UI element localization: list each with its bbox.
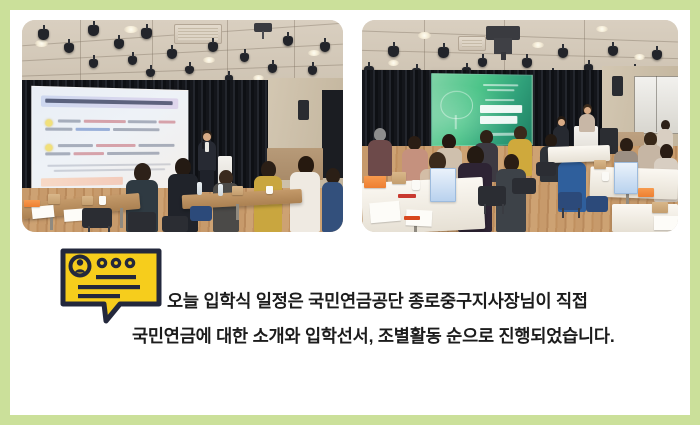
ceiling-downlight [388,60,399,66]
chair [162,216,188,232]
slide-bullet-icon [45,144,52,151]
ceiling-downlight [596,26,608,32]
stage-spotlight [558,48,568,58]
snack-box [638,188,654,197]
paper-bag [652,202,668,213]
audience-head [442,134,456,149]
speech-bubble [58,247,164,325]
paper-bag [48,194,60,204]
chair-leg [108,226,110,232]
chair-leg [88,226,90,232]
wall-speaker [612,76,623,96]
slide-body-text [138,144,174,147]
chair [128,212,156,232]
ceiling-ac-unit [174,24,222,44]
caption-line-1: 오늘 입학식 일정은 국민연금공단 종로중구지사장님이 직접 [167,288,588,313]
slide-body-text [58,119,81,122]
handout-paper [31,205,54,219]
ceiling-grid-line [294,20,295,82]
presenter-face [584,107,591,114]
slide-tree-trunk [455,115,457,129]
bubble-text-line [78,285,140,289]
info-folder [614,162,638,194]
stage-spotlight [478,58,487,67]
caption-line-2: 국민연금에 대한 소개와 입학선서, 조별활동 순으로 진행되었습니다. [132,323,615,348]
chair [190,206,212,221]
content-canvas: 오늘 입학식 일정은 국민연금공단 종로중구지사장님이 직접 국민연금에 대한 … [10,10,690,415]
microphone [202,142,204,149]
snack-box [24,200,40,207]
paper-cup [99,196,106,205]
ceiling-downlight [634,54,645,60]
doorway [322,90,343,178]
stage-spotlight [114,39,124,49]
stage-spotlight [167,49,177,59]
photo-left [22,20,343,232]
chair-leg [502,204,504,214]
stage-spotlight [320,42,330,52]
ceiling-downlight [308,50,320,56]
bubble-text-line [78,294,120,298]
stage-spotlight [438,47,449,58]
ceiling-downlight [532,42,544,48]
audience-head [620,138,633,152]
slide-subtitle [483,84,518,86]
projector-mount [501,52,506,60]
slide-body-text [159,120,176,123]
water-bottle [197,182,202,195]
slide-body-text [45,128,72,131]
audience-body [368,140,392,176]
chair-leg [578,208,580,218]
audience-head [514,126,527,140]
chair [586,196,608,212]
chair-leg [562,208,564,218]
chair [82,208,112,228]
presenter-shirt [205,142,209,152]
slide-kicker [485,99,514,101]
photo-right-scene [362,20,678,232]
paper-bag [392,172,406,184]
stage-spotlight [388,46,399,57]
table-leg [120,208,123,228]
paper-cup [412,180,420,190]
marker-pen [398,194,416,198]
paper-bag [232,186,243,195]
table-leg [626,194,629,204]
chair [512,178,536,194]
stage-spotlight [240,53,249,62]
audience-head [408,136,421,150]
slide-body-text [113,128,160,131]
photo-left-scene [22,20,343,232]
projector-arm [262,31,264,39]
presenter-top [579,114,595,132]
paper-bag [82,196,93,205]
stage-spotlight [208,42,218,52]
stage-spotlight [283,36,293,46]
slide-title-line-2 [480,116,517,124]
slide-subtitle [487,89,514,91]
info-folder [430,168,456,202]
handout-paper [369,201,401,224]
stage-spotlight [308,66,317,75]
slide-body-text [96,144,136,147]
marker-pen [404,216,420,220]
presenter [578,104,596,132]
slide-footer-band [41,177,123,187]
audience-head [660,144,673,159]
slide-body-text [74,152,105,155]
snack-box [364,176,386,188]
handout-paper [654,216,678,230]
ceiling-ac-unit [458,36,486,51]
ceiling-downlight [418,32,431,39]
audience-body [322,182,343,232]
table-leg [414,226,417,232]
presenter-face [203,133,211,141]
speech-bubble-icon [58,247,164,325]
photo-right [362,20,678,232]
slide-body-text [128,120,157,123]
stage-spotlight [141,28,152,39]
audience-member [322,168,343,232]
slide-body-text [84,120,126,123]
stage-spotlight [38,29,49,40]
bubble-dot-icon [98,259,105,266]
slide-body-text [45,152,70,155]
paper-cup [266,186,273,194]
bubble-dot-icon [126,259,133,266]
stage-spotlight [89,59,98,68]
ceiling-downlight [203,57,215,63]
bubble-text-line [96,275,136,279]
slide-body-text [58,144,93,147]
slide-bullet-icon [45,119,52,126]
presenter-trousers [200,170,214,192]
stage-spotlight [88,25,99,36]
mc-face [558,119,565,126]
slide-title-line-1 [480,105,522,113]
page-frame: 오늘 입학식 일정은 국민연금공단 종로중구지사장님이 직접 국민연금에 대한 … [0,0,700,425]
paper-cup [602,172,609,181]
stage-spotlight [608,46,618,56]
ceiling-downlight [35,40,48,47]
stage-spotlight [652,50,662,60]
water-bottle [218,184,223,196]
ceiling-downlight [124,26,138,33]
projection-screen-left [31,86,188,196]
wall-speaker [298,100,309,120]
table-leg [236,204,239,220]
stage-spotlight [522,58,532,68]
stage-spotlight [128,56,137,65]
audience-member [368,128,392,176]
bubble-dot-icon [112,259,119,266]
slide-body-text [76,128,110,131]
paper-bag [594,160,606,169]
stage-spotlight [268,64,277,73]
person-avatar-icon-head [77,259,83,265]
chair [536,162,556,176]
stage-spotlight [64,43,74,53]
chair-leg [484,204,486,214]
audience-head [480,130,493,144]
chair [478,186,506,206]
slide-body-text [107,152,159,155]
